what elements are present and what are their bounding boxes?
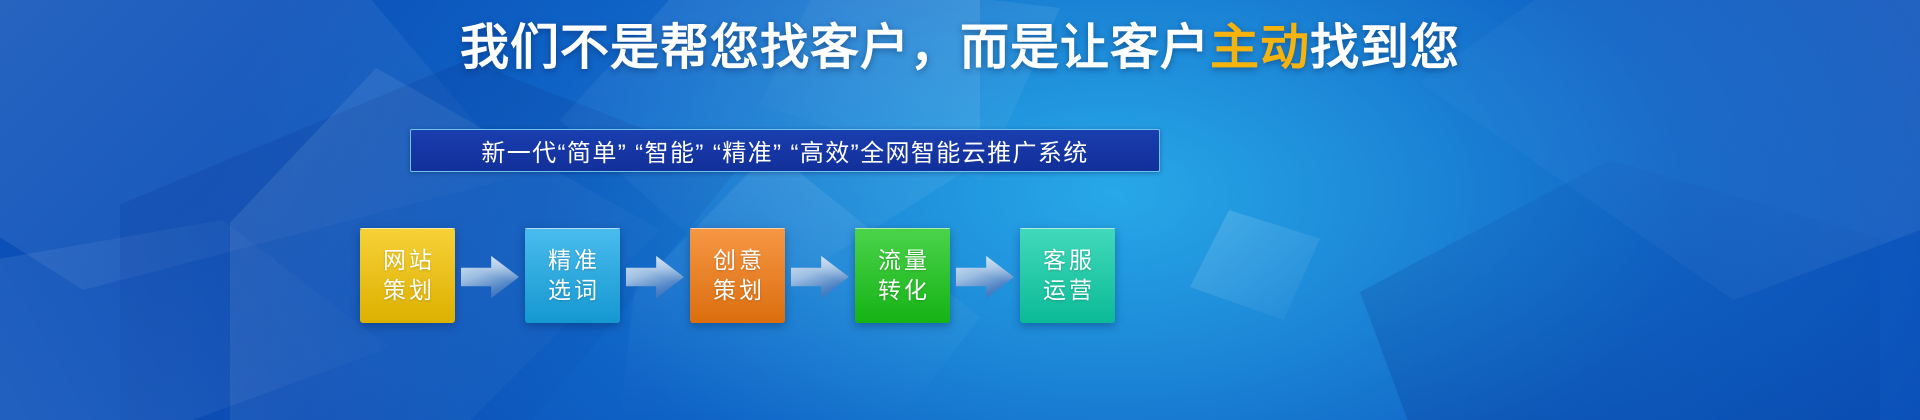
step-precise-keywords[interactable]: 精准选词 <box>525 228 620 323</box>
process-flow: 网站策划精准选词创意策划流量转化客服运营 <box>360 228 1230 338</box>
step-label-line1: 网站 <box>380 246 435 276</box>
headline-part-1: 我们不是帮您找客户，而是让客户 <box>460 21 1210 75</box>
chevron-right-arrow-icon <box>455 228 525 323</box>
step-label-line1: 客服 <box>1040 246 1095 276</box>
headline-accent-text: 主动 <box>1210 21 1310 75</box>
headline-part-2: 找到您 <box>1310 21 1460 75</box>
chevron-right-arrow-glyph <box>956 254 1014 300</box>
step-label-line1: 创意 <box>710 246 765 276</box>
step-label-line1: 精准 <box>545 246 600 276</box>
chevron-right-arrow-icon <box>950 228 1020 323</box>
step-label-line1: 流量 <box>875 246 930 276</box>
chevron-right-arrow-icon <box>620 228 690 323</box>
promo-banner: 我们不是帮您找客户，而是让客户主动找到您 新一代“简单” “智能” “精准” “… <box>0 0 1920 420</box>
banner-headline: 我们不是帮您找客户，而是让客户主动找到您 <box>0 22 1920 75</box>
chevron-right-arrow-glyph <box>791 254 849 300</box>
chevron-right-arrow-glyph <box>461 254 519 300</box>
background-shard-i <box>0 220 390 420</box>
step-label-line2: 选词 <box>545 276 600 306</box>
subtitle-text: 新一代“简单” “智能” “精准” “高效”全网智能云推广系统 <box>481 133 1088 168</box>
step-label-line2: 运营 <box>1040 276 1095 306</box>
subtitle-bar: 新一代“简单” “智能” “精准” “高效”全网智能云推广系统 <box>410 129 1160 172</box>
step-traffic-conversion[interactable]: 流量转化 <box>855 228 950 323</box>
step-creative-planning[interactable]: 创意策划 <box>690 228 785 323</box>
background-shard-g <box>1360 160 1880 420</box>
chevron-right-arrow-icon <box>785 228 855 323</box>
chevron-right-arrow-glyph <box>626 254 684 300</box>
step-service-operation[interactable]: 客服运营 <box>1020 228 1115 323</box>
step-website-planning[interactable]: 网站策划 <box>360 228 455 323</box>
step-label-line2: 转化 <box>875 276 930 306</box>
step-label-line2: 策划 <box>380 276 435 306</box>
step-label-line2: 策划 <box>710 276 765 306</box>
